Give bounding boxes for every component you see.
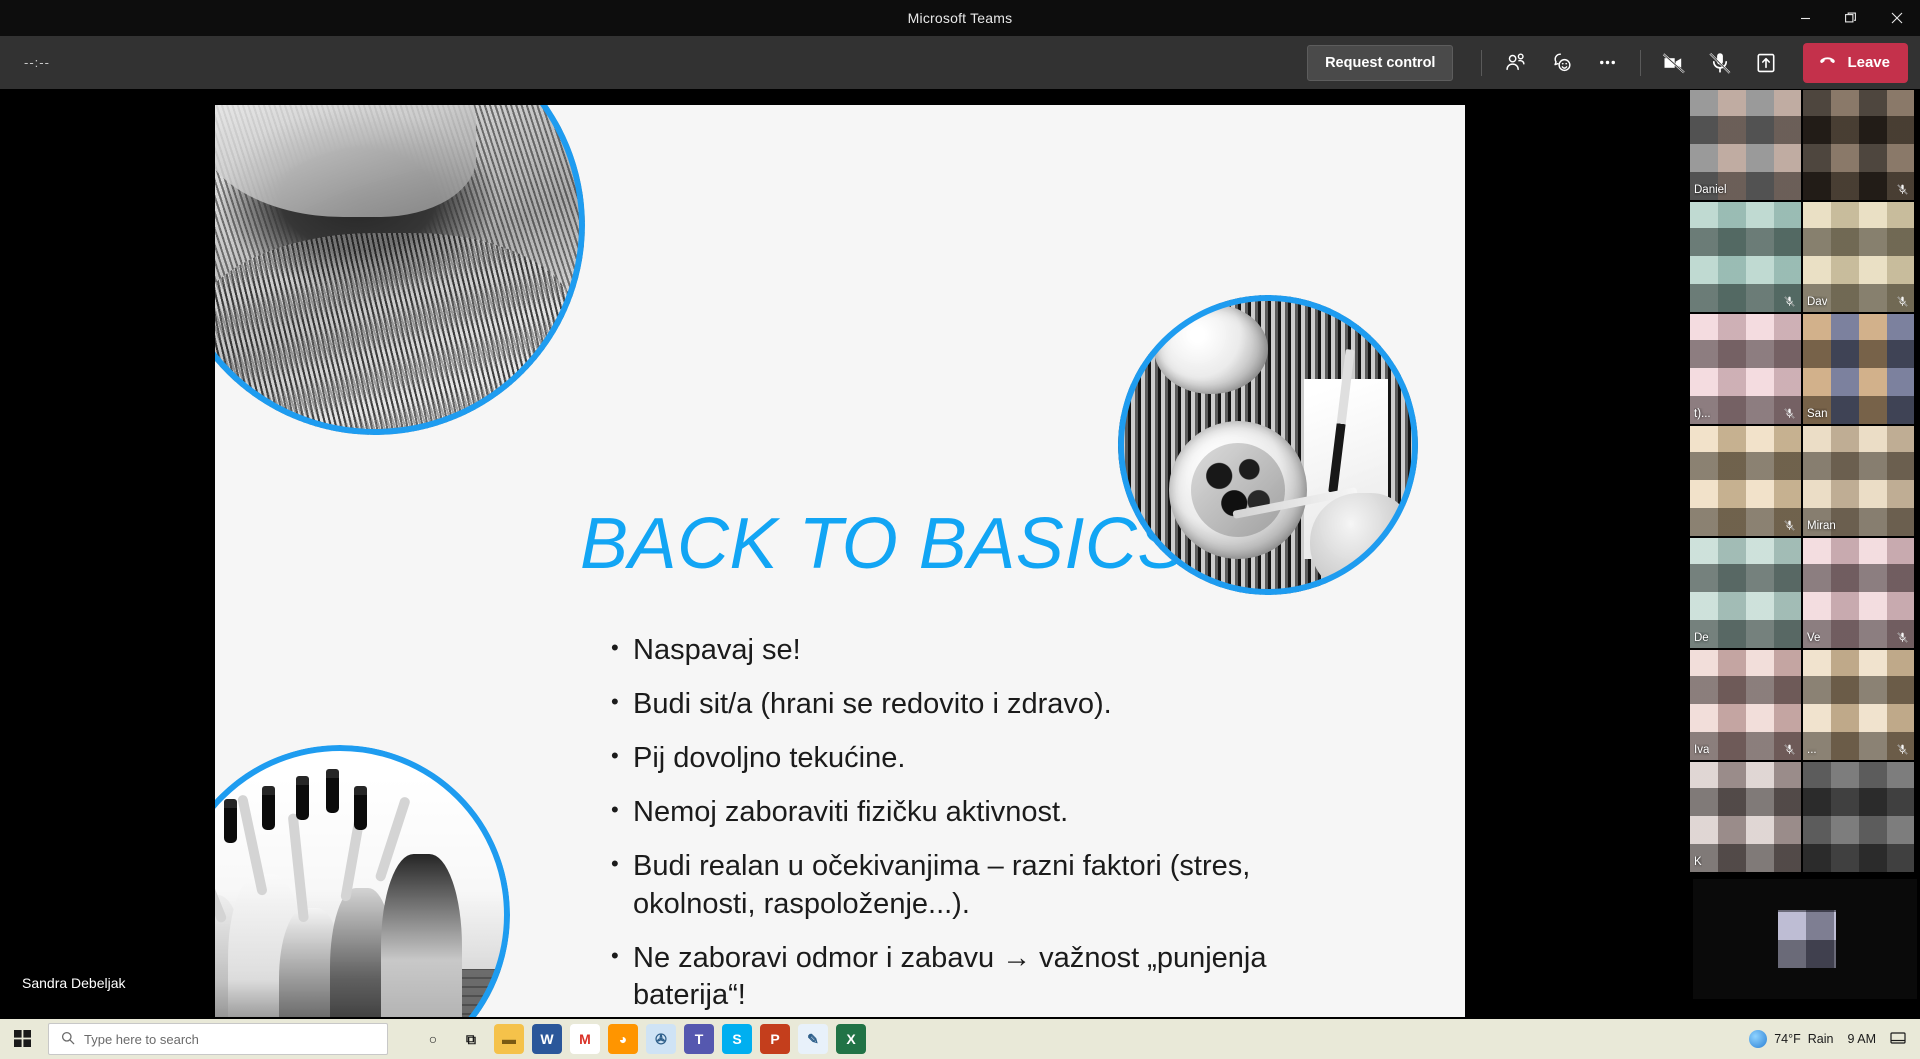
meeting-toolbar: --:-- Request control <box>0 36 1920 89</box>
participant-muted-icon <box>1783 407 1796 420</box>
participant-name-label: Dav <box>1807 296 1827 308</box>
hangup-icon <box>1817 50 1838 75</box>
slide-bullet: •Budi sit/a (hrani se redovito i zdravo)… <box>611 686 1311 723</box>
notepad-icon[interactable]: ✇ <box>646 1024 676 1054</box>
participant-grid: DanielDavt)...SanMiranDeVeIva...K <box>1690 89 1920 873</box>
search-input[interactable]: Type here to search <box>48 1023 388 1055</box>
participant-tile[interactable] <box>1803 90 1914 200</box>
task-view-icon[interactable]: ⧉ <box>456 1024 486 1054</box>
weather-widget[interactable]: 74°F Rain <box>1749 1030 1833 1048</box>
bullet-marker: • <box>611 940 633 972</box>
window-controls <box>1782 0 1920 36</box>
teams-meeting-window: Microsoft Teams --:-- Request control <box>0 0 1920 1059</box>
taskbar-app-icons: ○⧉▬WM◕✇TSP✎X <box>418 1024 866 1054</box>
toolbar-divider-2 <box>1640 50 1641 76</box>
slide-bullet: •Ne zaboravi odmor i zabavu → važnost „p… <box>611 940 1311 1014</box>
powerpoint-icon[interactable]: P <box>760 1024 790 1054</box>
meeting-timer: --:-- <box>24 55 50 70</box>
presentation-slide[interactable]: BACK TO BASICS •Naspavaj se!•Budi sit/a … <box>215 105 1465 1017</box>
bullet-marker: • <box>611 740 633 772</box>
gmail-icon[interactable]: M <box>570 1024 600 1054</box>
slide-bullet: •Pij dovoljno tekućine. <box>611 740 1311 777</box>
participant-muted-icon <box>1896 743 1909 756</box>
cortana-icon[interactable]: ○ <box>418 1024 448 1054</box>
bullet-text: Budi sit/a (hrani se redovito i zdravo). <box>633 686 1311 723</box>
slide-bullet: •Naspavaj se! <box>611 632 1311 669</box>
weather-icon <box>1749 1030 1767 1048</box>
skype-icon[interactable]: S <box>722 1024 752 1054</box>
participant-tile[interactable]: Miran <box>1803 426 1914 536</box>
participant-tile[interactable] <box>1690 202 1801 312</box>
participant-muted-icon <box>1783 743 1796 756</box>
healthy-food-photo <box>1118 295 1418 595</box>
participant-tile[interactable]: De <box>1690 538 1801 648</box>
participant-video-pixelated <box>1693 879 1917 999</box>
slide-bullet: •Budi realan u očekivanjima – razni fakt… <box>611 848 1311 922</box>
friends-toasting-image <box>215 745 510 1017</box>
participant-name-label: Ve <box>1807 632 1820 644</box>
bullet-marker: • <box>611 848 633 880</box>
leave-button[interactable]: Leave <box>1803 43 1908 83</box>
participant-name-label: Daniel <box>1694 184 1727 196</box>
weather-desc: Rain <box>1808 1032 1834 1046</box>
participant-tile[interactable] <box>1803 762 1914 872</box>
camera-off-icon[interactable] <box>1651 43 1697 83</box>
healthy-food-image <box>1118 295 1418 595</box>
bullet-marker: • <box>611 686 633 718</box>
slide-bullet-list: •Naspavaj se!•Budi sit/a (hrani se redov… <box>611 632 1311 1017</box>
start-button[interactable] <box>0 1019 46 1059</box>
participant-tile-solo[interactable] <box>1693 879 1917 999</box>
close-button[interactable] <box>1874 0 1920 36</box>
participant-name-label: De <box>1694 632 1709 644</box>
participant-tile[interactable]: Iva <box>1690 650 1801 760</box>
participant-tile[interactable] <box>1690 426 1801 536</box>
weather-temp: 74°F <box>1774 1032 1801 1046</box>
windows-taskbar[interactable]: Type here to search ○⧉▬WM◕✇TSP✎X 74°F Ra… <box>0 1019 1920 1059</box>
word-icon[interactable]: W <box>532 1024 562 1054</box>
file-explorer-icon[interactable]: ▬ <box>494 1024 524 1054</box>
bullet-text: Nemoj zaboraviti fizičku aktivnost. <box>633 794 1311 831</box>
share-screen-icon[interactable] <box>1743 43 1789 83</box>
toolbar-divider-1 <box>1481 50 1482 76</box>
bullet-text: Pij dovoljno tekućine. <box>633 740 1311 777</box>
participant-muted-icon <box>1783 295 1796 308</box>
participant-name-label: t)... <box>1694 408 1711 420</box>
search-placeholder: Type here to search <box>84 1032 199 1047</box>
slide-title: BACK TO BASICS <box>580 503 1186 585</box>
participant-tile[interactable]: San <box>1803 314 1914 424</box>
search-icon <box>61 1031 75 1048</box>
participant-tile[interactable]: Ve <box>1803 538 1914 648</box>
participant-name-label: Iva <box>1694 744 1709 756</box>
bullet-text: Naspavaj se! <box>633 632 1311 669</box>
participant-muted-icon <box>1896 295 1909 308</box>
notification-icon[interactable] <box>1890 1030 1906 1049</box>
paint-icon[interactable]: ✎ <box>798 1024 828 1054</box>
participant-muted-icon <box>1783 519 1796 532</box>
title-bar: Microsoft Teams <box>0 0 1920 36</box>
participant-name-label: San <box>1807 408 1827 420</box>
participant-tile[interactable]: K <box>1690 762 1801 872</box>
system-tray: 74°F Rain 9 AM <box>1749 1030 1920 1049</box>
reactions-icon[interactable] <box>1538 43 1584 83</box>
bullet-text: Budi realan u očekivanjima – razni fakto… <box>633 848 1311 922</box>
sleeping-man-photo <box>215 105 585 435</box>
participant-tile[interactable]: Dav <box>1803 202 1914 312</box>
toolbar-controls: Request control <box>1307 36 1920 89</box>
presenter-name-label: Sandra Debeljak <box>22 975 126 991</box>
participant-name-label: ... <box>1807 744 1817 756</box>
firefox-icon[interactable]: ◕ <box>608 1024 638 1054</box>
friends-toasting-photo <box>215 745 510 1017</box>
teams-icon[interactable]: T <box>684 1024 714 1054</box>
participant-name-label: K <box>1694 856 1702 868</box>
maximize-restore-button[interactable] <box>1828 0 1874 36</box>
request-control-button[interactable]: Request control <box>1307 45 1453 81</box>
bullet-text: Ne zaboravi odmor i zabavu → važnost „pu… <box>633 940 1311 1014</box>
participant-tile[interactable]: Daniel <box>1690 90 1801 200</box>
sleeping-man-image <box>215 105 585 435</box>
window-title: Microsoft Teams <box>908 10 1013 26</box>
participant-tile[interactable]: t)... <box>1690 314 1801 424</box>
minimize-button[interactable] <box>1782 0 1828 36</box>
participant-muted-icon <box>1896 631 1909 644</box>
participant-rail[interactable]: DanielDavt)...SanMiranDeVeIva...K <box>1690 89 1920 1019</box>
more-options-icon[interactable] <box>1584 43 1630 83</box>
participant-video-pixelated-core <box>1778 910 1836 968</box>
microphone-off-icon[interactable] <box>1697 43 1743 83</box>
slide-bullet: •Nemoj zaboraviti fizičku aktivnost. <box>611 794 1311 831</box>
participant-video-pixelated <box>1803 762 1914 872</box>
participant-video-pixelated <box>1690 762 1801 872</box>
bullet-marker: • <box>611 632 633 664</box>
participant-tile[interactable]: ... <box>1803 650 1914 760</box>
people-icon[interactable] <box>1492 43 1538 83</box>
participant-name-label: Miran <box>1807 520 1836 532</box>
participant-muted-icon <box>1896 183 1909 196</box>
bullet-marker: • <box>611 794 633 826</box>
leave-label: Leave <box>1847 54 1890 71</box>
excel-icon[interactable]: X <box>836 1024 866 1054</box>
clock[interactable]: 9 AM <box>1848 1032 1877 1046</box>
shared-content-stage[interactable]: BACK TO BASICS •Naspavaj se!•Budi sit/a … <box>0 89 1690 1019</box>
